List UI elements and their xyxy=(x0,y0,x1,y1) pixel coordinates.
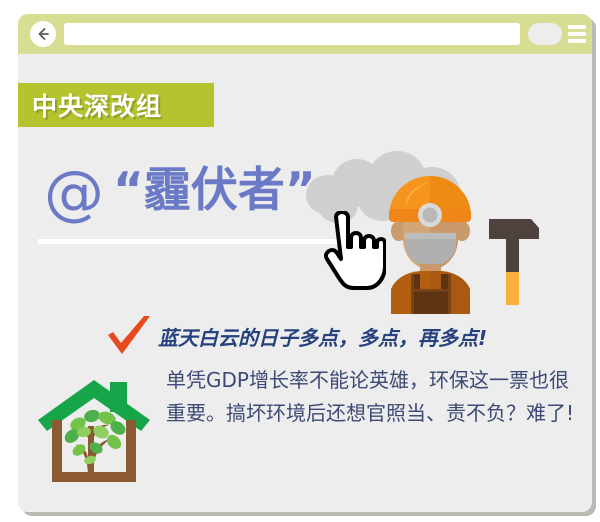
tab-pill-button[interactable] xyxy=(528,23,562,45)
construction-worker-icon xyxy=(373,169,488,314)
page-title: “霾伏者” xyxy=(113,161,316,221)
menu-line-1 xyxy=(568,25,586,29)
headline-section: @ “霾伏者” xyxy=(18,149,592,309)
ribbon-label: 中央深改组 xyxy=(32,87,162,123)
category-ribbon: 中央深改组 xyxy=(18,83,214,127)
back-button[interactable] xyxy=(30,21,56,47)
back-arrow-icon xyxy=(35,26,51,42)
menu-line-2 xyxy=(568,32,586,36)
body-paragraph: 单凭GDP增长率不能论英雄，环保这一票也很重要。搞坏环境后还想官照当、责不负？难… xyxy=(166,364,581,430)
orange-checkmark-icon xyxy=(106,316,152,360)
page-content: 中央深改组 @ “霾伏者” xyxy=(18,54,592,512)
check-headline-section: 蓝天白云的日子多点，多点，再多点! xyxy=(18,312,592,364)
hamburger-menu-icon[interactable] xyxy=(568,24,586,44)
browser-card: 中央深改组 @ “霾伏者” xyxy=(18,14,592,512)
pointing-hand-cursor-icon xyxy=(314,211,386,293)
at-symbol: @ xyxy=(44,163,104,223)
hammer-icon xyxy=(481,219,543,305)
address-bar-input[interactable] xyxy=(64,23,520,45)
browser-toolbar xyxy=(18,14,592,54)
check-headline-text: 蓝天白云的日子多点，多点，再多点! xyxy=(158,322,487,351)
ribbon-body: 中央深改组 xyxy=(18,83,214,127)
green-house-with-tree-icon xyxy=(34,372,154,492)
menu-line-3 xyxy=(568,39,586,43)
